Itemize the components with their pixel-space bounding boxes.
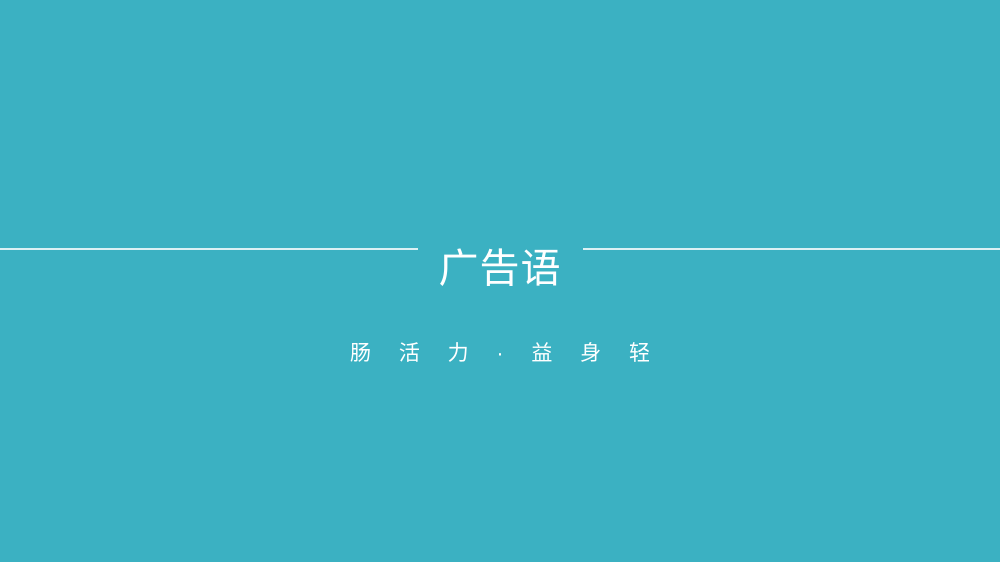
subtitle-container: 肠 活 力 · 益 身 轻 bbox=[0, 316, 1000, 392]
title-container: 广告语 bbox=[0, 214, 1000, 324]
slide-title: 广告语 bbox=[439, 241, 562, 297]
slide-subtitle: 肠 活 力 · 益 身 轻 bbox=[339, 337, 661, 371]
slide-canvas: 广告语 肠 活 力 · 益 身 轻 bbox=[0, 0, 1000, 562]
